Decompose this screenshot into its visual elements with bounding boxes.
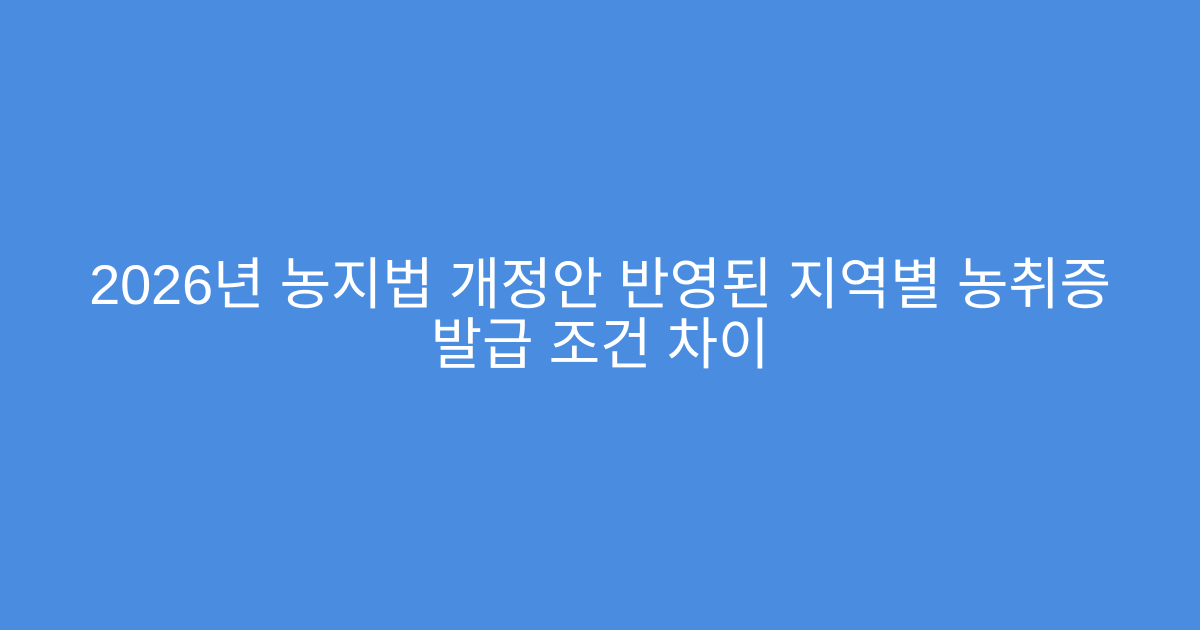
title-block: 2026년 농지법 개정안 반영된 지역별 농취증 발급 조건 차이: [0, 0, 1200, 630]
page-title: 2026년 농지법 개정안 반영된 지역별 농취증 발급 조건 차이: [70, 255, 1130, 375]
title-card: 2026년 농지법 개정안 반영된 지역별 농취증 발급 조건 차이: [0, 0, 1200, 630]
